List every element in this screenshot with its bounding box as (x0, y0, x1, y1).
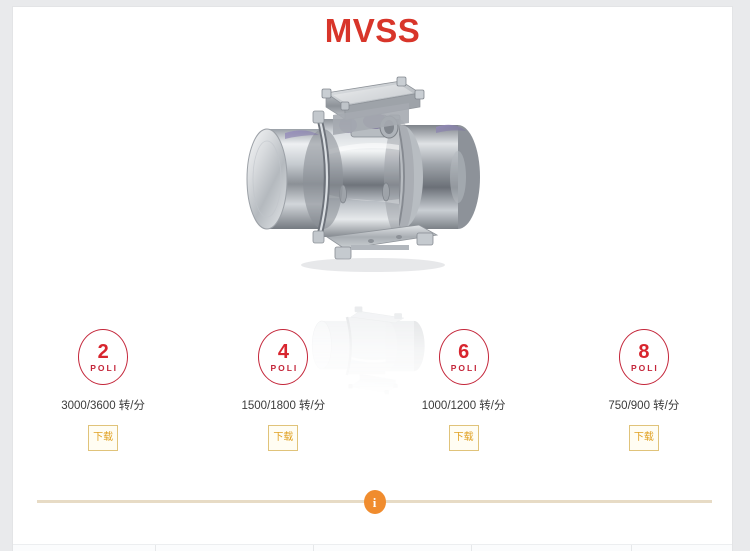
product-image (223, 59, 523, 291)
download-button-4[interactable]: 下载 (268, 425, 298, 451)
spec-table-column-3 (314, 545, 472, 551)
pole-number: 8 (638, 342, 649, 362)
pole-speed: 750/900 转/分 (608, 401, 679, 413)
pole-option-6: 6 POLI 1000/1200 转/分 下载 (374, 329, 554, 459)
download-button-8[interactable]: 下载 (629, 425, 659, 451)
pole-speed: 3000/3600 转/分 (61, 401, 145, 413)
pole-speed: 1500/1800 转/分 (241, 401, 325, 413)
pole-option-8: 8 POLI 750/900 转/分 下载 (554, 329, 733, 459)
spec-table-column-4 (472, 545, 632, 551)
pole-word: POLI (449, 364, 479, 373)
pole-badge-6: 6 POLI (439, 329, 489, 385)
section-divider: i (37, 492, 712, 522)
pole-badge-2: 2 POLI (78, 329, 128, 385)
pole-number: 6 (458, 342, 469, 362)
pole-word: POLI (88, 364, 118, 373)
pole-options-row: 2 POLI 3000/3600 转/分 下载 4 POLI 1500/1800… (13, 329, 733, 459)
page-title: MVSS (13, 11, 732, 51)
pole-option-4: 4 POLI 1500/1800 转/分 下载 (193, 329, 373, 459)
download-button-2[interactable]: 下载 (88, 425, 118, 451)
spec-table-header (13, 544, 733, 551)
download-button-6[interactable]: 下载 (449, 425, 479, 451)
pole-word: POLI (629, 364, 659, 373)
info-icon[interactable]: i (364, 490, 386, 514)
pole-speed: 1000/1200 转/分 (422, 401, 506, 413)
spec-table-column-5 (632, 545, 733, 551)
pole-number: 4 (278, 342, 289, 362)
pole-badge-4: 4 POLI (258, 329, 308, 385)
pole-option-2: 2 POLI 3000/3600 转/分 下载 (13, 329, 193, 459)
pole-badge-8: 8 POLI (619, 329, 669, 385)
vibrator-motor-illustration (223, 59, 523, 291)
spec-table-column-2 (156, 545, 314, 551)
product-page-sheet: MVSS (12, 6, 733, 551)
spec-table-column-1 (13, 545, 156, 551)
pole-number: 2 (98, 342, 109, 362)
pole-word: POLI (268, 364, 298, 373)
